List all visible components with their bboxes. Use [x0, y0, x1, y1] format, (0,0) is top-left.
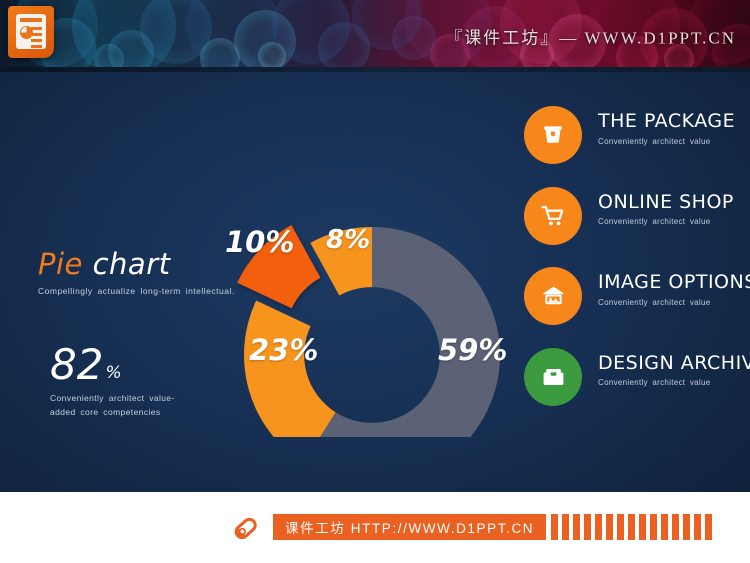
shopping-cart-icon: [541, 204, 566, 228]
legend-item-4[interactable]: DESIGN ARCHIVEConveniently architect val…: [524, 348, 750, 406]
pie-slice-label: 59%: [438, 333, 507, 367]
pie-chart-svg: [225, 137, 525, 437]
legend-item-subtitle: Conveniently architect value: [598, 217, 750, 226]
footer-bar: 课件工坊 HTTP://WWW.D1PPT.CN: [0, 492, 750, 563]
pie-slice-label: 23%: [249, 333, 318, 367]
page-subtitle: Compellingly actualize long-term intelle…: [38, 286, 228, 296]
footer-bar-tick: [617, 514, 624, 540]
page-title: Pie chart: [38, 247, 228, 281]
footer-bar-tick: [672, 514, 679, 540]
footer-bar-pattern: [551, 514, 716, 540]
stat-value: 82: [50, 344, 103, 386]
legend-item-title: IMAGE OPTIONS: [598, 271, 750, 295]
slide-page: 『课件工坊』— WWW.D1PPT.CN Pie chart Compellin…: [0, 0, 750, 563]
stat-value-group: 82%: [50, 344, 225, 386]
footer-bar-tick: [628, 514, 635, 540]
left-text-block: Pie chart Compellingly actualize long-te…: [38, 247, 228, 296]
legend-text-group: IMAGE OPTIONSConveniently architect valu…: [598, 271, 750, 307]
footer-bar-tick: [639, 514, 646, 540]
legend-text-group: THE PACKAGEConveniently architect value: [598, 110, 750, 146]
stat-caption-line2: added core competencies: [50, 407, 161, 417]
legend-item-subtitle: Conveniently architect value: [598, 298, 750, 307]
page-title-rest: chart: [83, 247, 171, 281]
footer-bar-tick: [595, 514, 602, 540]
footer-bar-tick: [683, 514, 690, 540]
page-title-highlight: Pie: [38, 247, 83, 281]
bokeh-circle: [258, 42, 286, 70]
footer-bar-tick: [551, 514, 558, 540]
legend-item-title: THE PACKAGE: [598, 110, 750, 134]
legend-item-subtitle: Conveniently architect value: [598, 137, 750, 146]
footer-bar-tick: [694, 514, 701, 540]
logo-bar: [31, 39, 42, 42]
legend-text-group: DESIGN ARCHIVEConveniently architect val…: [598, 352, 750, 388]
legend-icon-circle[interactable]: [524, 348, 582, 406]
footer-bar-tick: [606, 514, 613, 540]
stat-unit: %: [105, 365, 121, 382]
logo-bar: [31, 27, 42, 30]
logo-bar: [31, 33, 42, 36]
legend-icon-circle[interactable]: [524, 187, 582, 245]
stat-caption: Conveniently architect value- added core…: [50, 392, 225, 419]
footer-bar-tick: [573, 514, 580, 540]
header-watermark: 『课件工坊』— WWW.D1PPT.CN: [445, 24, 736, 49]
pie-chart[interactable]: 59%23%10%8%: [225, 137, 525, 437]
stat-block: 82% Conveniently architect value- added …: [50, 344, 225, 419]
logo-bar: [31, 45, 42, 48]
slide-content: Pie chart Compellingly actualize long-te…: [0, 72, 750, 492]
legend-icon-circle[interactable]: [524, 267, 582, 325]
powerpoint-logo[interactable]: [8, 6, 54, 58]
footer-bar-tick: [584, 514, 591, 540]
legend-item-title: ONLINE SHOP: [598, 191, 750, 215]
legend-item-2[interactable]: ONLINE SHOPConveniently architect value: [524, 187, 750, 245]
image-icon: [541, 284, 566, 308]
footer-bar-tick: [705, 514, 712, 540]
legend-item-1[interactable]: THE PACKAGEConveniently architect value: [524, 106, 750, 164]
logo-inner-card: [16, 14, 46, 49]
legend-item-subtitle: Conveniently architect value: [598, 378, 750, 387]
footer-content: 课件工坊 HTTP://WWW.D1PPT.CN: [230, 506, 716, 548]
legend-text-group: ONLINE SHOPConveniently architect value: [598, 191, 750, 227]
header-banner: 『课件工坊』— WWW.D1PPT.CN: [0, 0, 750, 72]
stat-caption-line1: Conveniently architect value-: [50, 393, 175, 403]
footer-banner[interactable]: 课件工坊 HTTP://WWW.D1PPT.CN: [273, 514, 546, 540]
pie-slice[interactable]: [244, 301, 336, 437]
archive-box-icon: [541, 365, 566, 389]
footer-bar-tick: [661, 514, 668, 540]
footer-bar-tick: [650, 514, 657, 540]
paint-bucket-icon: [541, 123, 565, 147]
pencil-icon: [230, 510, 266, 544]
legend-icon-circle[interactable]: [524, 106, 582, 164]
footer-bar-tick: [562, 514, 569, 540]
pie-slice-label: 10%: [225, 225, 294, 259]
legend-item-title: DESIGN ARCHIVE: [598, 352, 750, 376]
legend-item-3[interactable]: IMAGE OPTIONSConveniently architect valu…: [524, 267, 750, 325]
pie-slice-label: 8%: [326, 225, 370, 255]
footer-banner-text: 课件工坊 HTTP://WWW.D1PPT.CN: [285, 517, 534, 537]
